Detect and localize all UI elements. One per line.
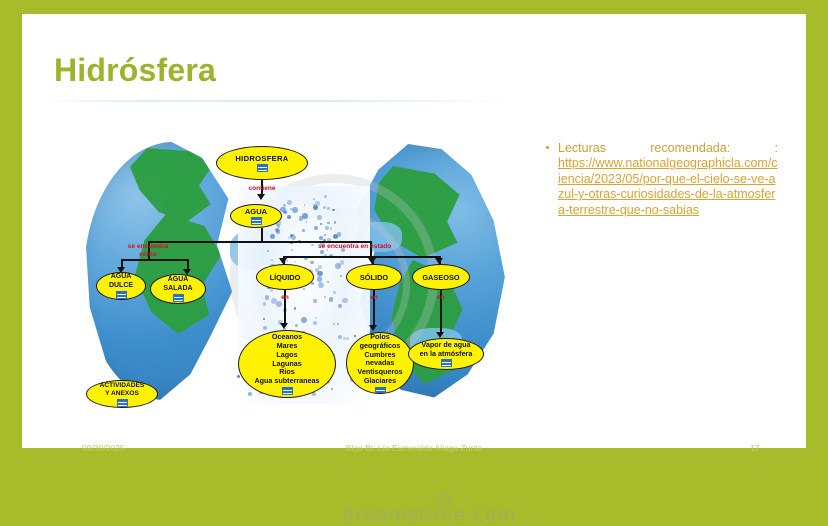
flag-icon [173,294,184,302]
node-actividades-y-anexos[interactable]: ACTIVIDADES Y ANEXOS [86,380,158,408]
node-solido[interactable]: SÓLIDO [346,264,402,290]
node-label: HIDROSFERA [235,154,288,163]
node-label: SÓLIDO [360,273,388,282]
node-label: ACTIVIDADES [100,382,145,390]
slide-background: Hidrósfera [0,0,828,466]
hydrosphere-diagram: contiene se encuentra como se encuentra … [80,142,520,414]
recommended-readings-block: Lecturas recomendada: : https://www.nati… [542,140,778,218]
title-divider [42,100,512,102]
arrow-head [280,323,288,329]
node-gas-examples[interactable]: Vapor de agua en la atmósfera [408,338,484,370]
edge-label-en-3: en [428,294,454,302]
edge-label-se-encuentra-como: se encuentra como [127,243,169,258]
readings-label-part: : [775,140,778,156]
node-label: en la atmósfera [420,350,473,359]
edge-label-se-encuentra-en-estado: se encuentra en estado [318,243,391,251]
watermark-name: dreamstime [342,504,466,526]
node-solid-examples[interactable]: Polos geográficos Cumbres nevadas Ventis… [346,332,414,394]
edge-state-bus [283,256,440,258]
node-gaseoso[interactable]: GASEOSO [412,264,470,290]
flag-icon [116,291,127,299]
node-label: AGUA [168,276,189,285]
node-label: Glaciares [364,377,396,386]
node-liquid-examples[interactable]: Oceanos Mares Lagos Lagunas Rios Agua su… [238,330,336,398]
page-title: Hidrósfera [54,52,216,89]
readings-label: Lecturas recomendada: : [558,140,778,156]
node-label: SALADA [163,285,192,294]
edge-left-split [121,259,189,261]
node-label: AGUA [111,273,132,282]
reading-link[interactable]: https://www.nationalgeographicla.com/cie… [558,156,778,218]
node-label: DULCE [109,282,133,291]
node-label: GASEOSO [422,273,459,282]
flag-icon [375,387,386,393]
bullet-item: Lecturas recomendada: : https://www.nati… [542,140,778,218]
node-agua[interactable]: AGUA [230,204,282,228]
flag-icon [117,399,128,407]
footer-author: Blgo Bt. Lía Esmeralda Aliaga Zurita [22,443,806,453]
edge-agua-down [261,228,263,242]
readings-label-part: Lecturas [558,140,606,156]
node-label: Agua subterraneas [254,377,319,386]
edge-label-en-1: en [272,294,298,302]
flag-icon [282,387,293,395]
node-hidrosfera[interactable]: HIDROSFERA [216,146,308,180]
readings-label-part: recomendada: [650,140,730,156]
node-agua-salada[interactable]: AGUA SALADA [150,274,206,304]
edge-label-contiene: contiene [240,185,284,193]
node-label: AGUA [245,207,267,216]
bullet-icon [546,146,549,149]
watermark-tld: .com [466,504,517,526]
edge-label-en-2: en [361,294,387,302]
footer-page-number: 17 [750,443,759,453]
node-label: LÍQUIDO [270,273,301,282]
slide-canvas: Hidrósfera [22,14,806,448]
node-label: Y ANEXOS [105,390,139,398]
flag-icon [441,359,452,367]
node-agua-dulce[interactable]: AGUA DULCE [96,272,146,300]
landmass-shape [130,148,226,226]
watermark-text: dreamstime.com [342,504,517,526]
arrow-head [369,325,377,331]
arrow-head [257,194,265,200]
node-liquido[interactable]: LÍQUIDO [256,264,314,290]
flag-icon [257,164,268,172]
flag-icon [251,217,262,225]
